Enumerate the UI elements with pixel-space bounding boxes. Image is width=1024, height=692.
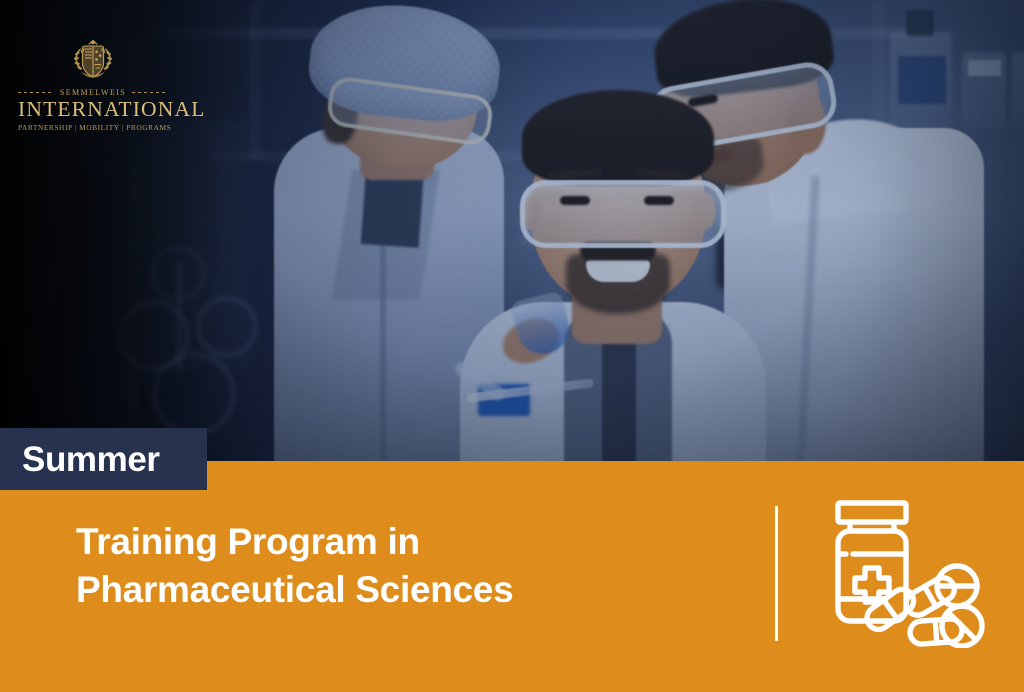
- logo-tagline: PARTNERSHIP | MOBILITY | PROGRAMS: [18, 123, 168, 132]
- summer-program-banner: SEMMELWEIS INTERNATIONAL PARTNERSHIP | M…: [0, 0, 1024, 692]
- headline-line-2: Pharmaceutical Sciences: [76, 566, 736, 614]
- medicine-bottle-with-pills-icon: [812, 498, 992, 648]
- logo-title: INTERNATIONAL: [18, 98, 168, 121]
- coat-of-arms-icon: [62, 38, 124, 84]
- headline-line-1: Training Program in: [76, 518, 736, 566]
- tablet: [942, 606, 982, 646]
- banner-headline: Training Program in Pharmaceutical Scien…: [76, 518, 736, 614]
- pill-bottle-cap: [838, 503, 906, 522]
- season-badge-label: Summer: [0, 442, 160, 477]
- semmelweis-international-logo: SEMMELWEIS INTERNATIONAL PARTNERSHIP | M…: [18, 38, 168, 132]
- logo-rule-left: [18, 92, 54, 93]
- logo-subtitle: SEMMELWEIS: [60, 88, 126, 97]
- tablet: [937, 566, 977, 606]
- logo-rule-right: [132, 92, 168, 93]
- logo-sub-rule-row: SEMMELWEIS: [18, 88, 168, 97]
- vertical-divider: [775, 506, 778, 641]
- season-badge: Summer: [0, 428, 207, 490]
